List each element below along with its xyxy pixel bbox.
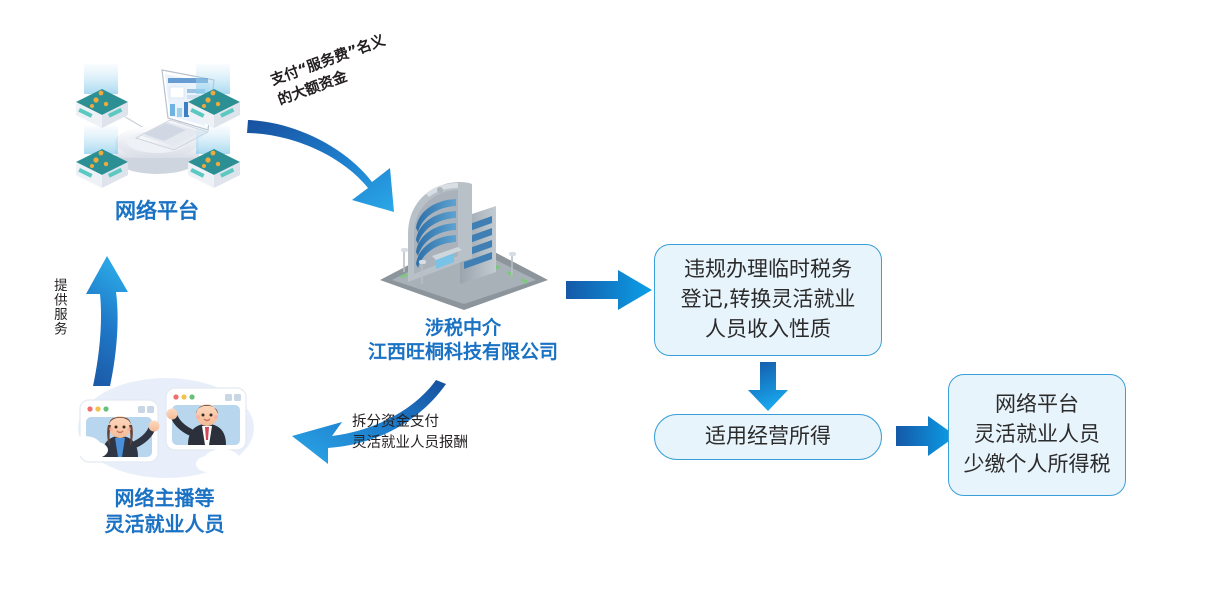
arrow-streamers-to-platform (70, 248, 140, 388)
platform-graphic (62, 58, 252, 198)
arrow-label-split-funds-line2: 灵活就业人员报酬 (352, 433, 552, 454)
arrow-box1-to-box2 (746, 362, 790, 412)
agency-label-line1: 涉税中介 (368, 316, 558, 340)
agency-label-line2: 江西旺桐科技有限公司 (368, 340, 558, 364)
outcome-box-illegal-registration: 违规办理临时税务 登记,转换灵活就业 人员收入性质 (654, 244, 882, 356)
arrow-label-split-funds: 拆分资金支付 灵活就业人员报酬 (352, 412, 552, 454)
box1-line2: 登记,转换灵活就业 (655, 285, 881, 315)
box3-line3: 少缴个人所得税 (949, 450, 1125, 480)
box2-line1: 适用经营所得 (655, 422, 881, 452)
box1-line3: 人员收入性质 (655, 315, 881, 345)
box3-line1: 网络平台 (949, 390, 1125, 420)
agency-label: 涉税中介 江西旺桐科技有限公司 (368, 316, 558, 365)
office-building-illustration (374, 172, 554, 312)
diagram-canvas: 网络平台 提供服务 (0, 0, 1209, 607)
arrow-label-provide-service: 提供服务 (50, 278, 66, 336)
outcome-box-business-income: 适用经营所得 (654, 414, 882, 460)
streamers-label: 网络主播等 灵活就业人员 (72, 486, 257, 537)
outcome-box-underpaid-tax: 网络平台 灵活就业人员 少缴个人所得税 (948, 374, 1126, 496)
network-platform-illustration (62, 58, 252, 198)
box3-line2: 灵活就业人员 (949, 420, 1125, 450)
arrow-label-split-funds-line1: 拆分资金支付 (352, 412, 552, 433)
platform-label: 网络平台 (82, 198, 232, 225)
live-streamer-illustration (62, 372, 262, 492)
arrow-agency-to-box1 (566, 268, 654, 312)
box1-line1: 违规办理临时税务 (655, 255, 881, 285)
streamers-label-line1: 网络主播等 (72, 486, 257, 512)
streamers-label-line2: 灵活就业人员 (72, 512, 257, 538)
